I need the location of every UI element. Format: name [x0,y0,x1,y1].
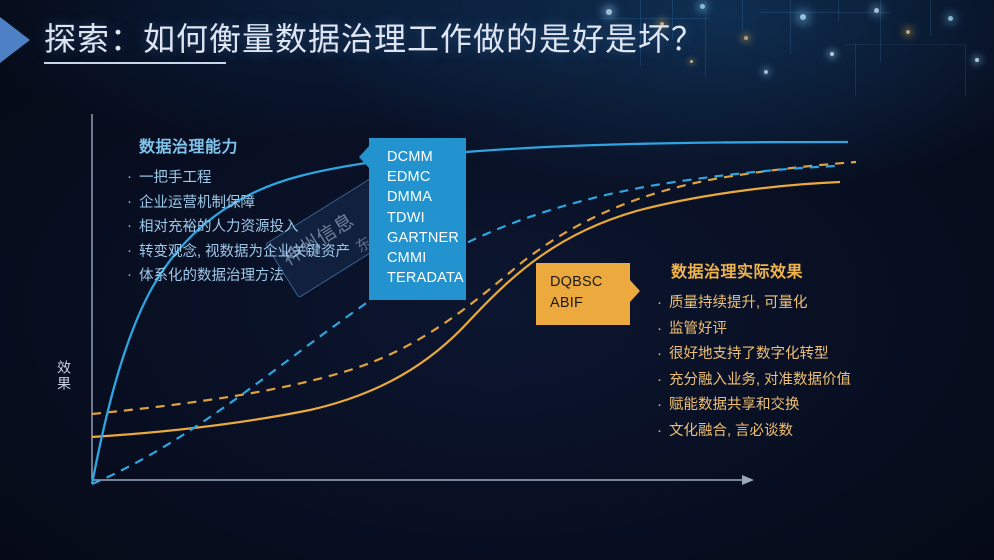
metrics-list: DQBSC ABIF [536,263,630,314]
page-title: 探索：如何衡量数据治理工作做的是好是坏？ [44,14,704,60]
effect-list: 质量持续提升, 可量化 监管好评 很好地支持了数字化转型 充分融入业务, 对准数… [655,291,851,444]
metrics-callout-notch [630,280,640,302]
list-item: DQBSC [550,272,630,293]
slide-header: 探索：如何衡量数据治理工作做的是好是坏？ [0,0,994,92]
metrics-callout: DQBSC ABIF [536,263,630,325]
y-axis-label-text: 效果 [55,360,72,392]
standards-callout-notch [359,146,369,168]
list-item: 相对充裕的人力资源投入 [125,215,350,240]
list-item: GARTNER [387,228,466,248]
slide-root: 探索：如何衡量数据治理工作做的是好是坏？ 效果 时间&投入 神州信息 东方通 [0,0,994,560]
list-item: 很好地支持了数字化转型 [655,342,851,368]
y-axis-label: 效果 [55,360,77,392]
list-item: 文化融合, 言必谈数 [655,419,851,445]
list-item: 一把手工程 [125,166,350,191]
slide-footer: 让数据资产发挥价值 DCITS 神州信息 [0,512,994,560]
list-item: 质量持续提升, 可量化 [655,291,851,317]
standards-list: DCMM EDMC DMMA TDWI GARTNER CMMI TERADAT… [369,138,466,288]
list-item: DCMM [387,147,466,167]
capability-block: 数据治理能力 一把手工程 企业运营机制保障 相对充裕的人力资源投入 转变观念, … [125,133,350,289]
header-triangle-icon [0,17,30,63]
effect-block: 数据治理实际效果 质量持续提升, 可量化 监管好评 很好地支持了数字化转型 充分… [655,258,851,444]
list-item: 转变观念, 视数据为企业关键资产 [125,240,350,265]
title-underline [44,62,226,64]
list-item: 充分融入业务, 对准数据价值 [655,368,851,394]
list-item: 监管好评 [655,317,851,343]
list-item: EDMC [387,167,466,187]
list-item: CMMI [387,248,466,268]
list-item: 赋能数据共享和交换 [655,393,851,419]
list-item: 企业运营机制保障 [125,191,350,216]
capability-list: 一把手工程 企业运营机制保障 相对充裕的人力资源投入 转变观念, 视数据为企业关… [125,166,350,289]
effect-heading: 数据治理实际效果 [671,258,851,282]
list-item: ABIF [550,293,630,314]
list-item: TERADATA [387,268,466,288]
list-item: DMMA [387,187,466,207]
list-item: 体系化的数据治理方法 [125,264,350,289]
standards-callout: DCMM EDMC DMMA TDWI GARTNER CMMI TERADAT… [369,138,466,300]
list-item: TDWI [387,208,466,228]
x-axis-arrow [742,475,754,485]
capability-heading: 数据治理能力 [139,133,350,157]
